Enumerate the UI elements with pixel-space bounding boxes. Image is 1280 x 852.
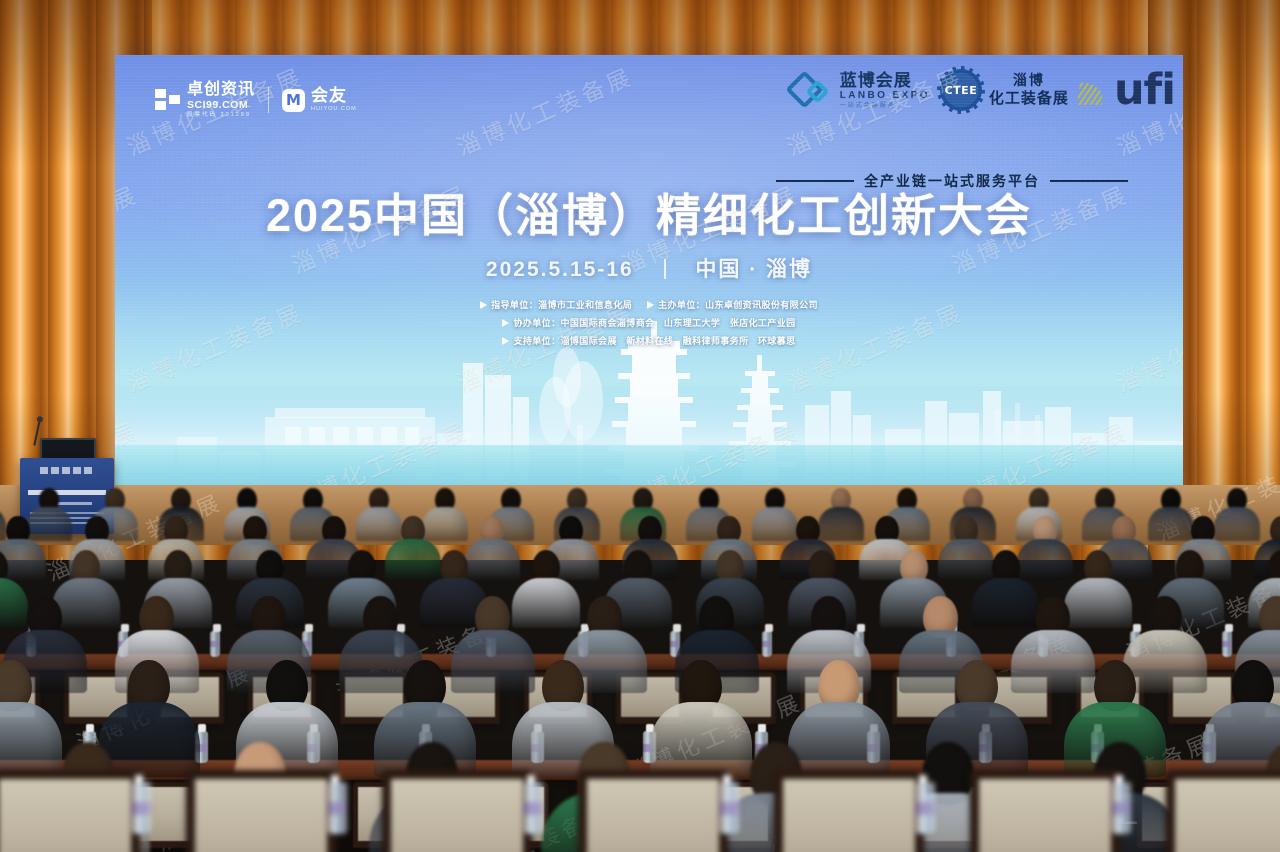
sci99-mark-icon bbox=[155, 89, 181, 111]
organizer-label: 主办单位： bbox=[658, 300, 705, 310]
person-torso bbox=[650, 702, 752, 777]
organizer-label: 指导单位： bbox=[491, 300, 538, 310]
ufi-wing-icon bbox=[1077, 75, 1115, 105]
person-torso bbox=[1064, 578, 1132, 628]
huiyou-logo: M 会友 HUIYOU.COM bbox=[282, 87, 357, 113]
conference-photo: 卓创资讯 SCI99.COM 股票代码 301299 M 会友 HUIYOU.C… bbox=[0, 0, 1280, 852]
lanbo-expo-logo: 蓝博会展 LANBO EXPO 一站式会展服务 bbox=[791, 70, 930, 110]
person-torso bbox=[1011, 630, 1095, 692]
person-torso bbox=[818, 507, 864, 541]
bullet-arrow-icon bbox=[502, 319, 509, 327]
person-torso bbox=[752, 507, 798, 541]
ctee-line1: 淄博 bbox=[989, 72, 1069, 88]
slide-title: 2025中国（淄博）精细化工创新大会 bbox=[115, 179, 1183, 244]
foreground-chair bbox=[970, 770, 1120, 852]
huiyou-badge-icon: M bbox=[282, 89, 305, 112]
lanbo-en: LANBO EXPO bbox=[840, 91, 930, 101]
ctee-logo: CTEE 淄博 化工装备展 bbox=[940, 69, 1069, 111]
slide-date: 2025.5.15-16 bbox=[486, 258, 634, 281]
lanbo-diamond-icon bbox=[791, 70, 833, 110]
foreground-chair bbox=[186, 770, 336, 852]
person-torso bbox=[356, 507, 402, 541]
ctee-line2: 化工装备展 bbox=[989, 90, 1069, 107]
organizer-value: 淄博市工业和信息化局 bbox=[538, 300, 632, 310]
person-torso bbox=[1214, 507, 1260, 541]
water-bottle bbox=[1222, 631, 1232, 657]
ufi-logo: ufi bbox=[1079, 72, 1175, 109]
slide-organizers: 指导单位：淄博市工业和信息化局 主办单位：山东卓创资讯股份有限公司 协办单位：中… bbox=[115, 298, 1183, 352]
sci99-en: SCI99.COM bbox=[187, 100, 255, 111]
water-bottle bbox=[132, 782, 151, 834]
organizer-line: 支持单位：淄博国际会展 新材料在线 融科律师事务所 环球慕思 bbox=[115, 334, 1183, 347]
person-torso bbox=[938, 539, 994, 580]
foreground-chair bbox=[1166, 770, 1280, 852]
person-torso bbox=[52, 578, 120, 628]
person-torso bbox=[0, 507, 6, 541]
logo-divider bbox=[268, 87, 269, 113]
organizer-value: 淄博国际会展 新材料在线 融科律师事务所 环球慕思 bbox=[561, 336, 796, 346]
lanbo-cn: 蓝博会展 bbox=[840, 72, 930, 89]
bullet-arrow-icon bbox=[502, 337, 509, 345]
person-torso bbox=[788, 702, 890, 777]
sci99-cn: 卓创资讯 bbox=[187, 82, 255, 98]
person-torso bbox=[512, 578, 580, 628]
person-torso bbox=[98, 702, 200, 777]
projection-screen: 卓创资讯 SCI99.COM 股票代码 301299 M 会友 HUIYOU.C… bbox=[115, 55, 1183, 485]
slide-logos-right: 蓝博会展 LANBO EXPO 一站式会展服务 CTEE 淄博 化工装备展 bbox=[791, 69, 1175, 111]
huiyou-sub: HUIYOU.COM bbox=[311, 107, 357, 113]
foreground-chair bbox=[0, 770, 140, 852]
organizer-line: 协办单位：中国国际商会淄博商会 山东理工大学 张店化工产业园 bbox=[115, 316, 1183, 329]
gear-icon: CTEE bbox=[940, 69, 982, 111]
audience-seating bbox=[0, 470, 1280, 852]
person-torso bbox=[1148, 507, 1194, 541]
water-bottle bbox=[916, 782, 935, 834]
person-torso bbox=[0, 578, 28, 628]
organizer-label: 协办单位： bbox=[513, 318, 560, 328]
ufi-text: ufi bbox=[1114, 72, 1175, 109]
person-torso bbox=[385, 539, 441, 580]
bullet-arrow-icon bbox=[480, 301, 487, 309]
organizer-value: 中国国际商会淄博商会 山东理工大学 张店化工产业园 bbox=[561, 318, 796, 328]
foreground-chair bbox=[774, 770, 924, 852]
water-bottle bbox=[210, 631, 220, 657]
slide-location: 中国 · 淄博 bbox=[695, 258, 812, 281]
subtitle-divider bbox=[664, 259, 666, 279]
slide-logos-left: 卓创资讯 SCI99.COM 股票代码 301299 M 会友 HUIYOU.C… bbox=[155, 82, 357, 118]
huiyou-cn: 会友 bbox=[311, 87, 357, 104]
water-bottle bbox=[762, 631, 772, 657]
sci99-sub: 股票代码 301299 bbox=[187, 113, 255, 119]
person-torso bbox=[0, 702, 62, 777]
water-bottle bbox=[720, 782, 739, 834]
person-torso bbox=[464, 539, 520, 580]
foreground-chair bbox=[382, 770, 532, 852]
water-bottle bbox=[1112, 782, 1131, 834]
person-torso bbox=[451, 630, 535, 692]
bullet-arrow-icon bbox=[647, 301, 654, 309]
water-bottle bbox=[328, 782, 347, 834]
person-torso bbox=[422, 507, 468, 541]
ctee-mark-text: CTEE bbox=[940, 69, 982, 111]
person-torso bbox=[26, 507, 72, 541]
water-bottle bbox=[524, 782, 543, 834]
foreground-chair bbox=[578, 770, 728, 852]
organizer-value: 山东卓创资讯股份有限公司 bbox=[705, 300, 818, 310]
person-torso bbox=[1017, 539, 1073, 580]
lanbo-sub: 一站式会展服务 bbox=[840, 103, 930, 109]
sci99-logo: 卓创资讯 SCI99.COM 股票代码 301299 bbox=[155, 82, 255, 118]
person-torso bbox=[972, 578, 1040, 628]
organizer-label: 支持单位： bbox=[513, 336, 560, 346]
organizer-line: 指导单位：淄博市工业和信息化局 主办单位：山东卓创资讯股份有限公司 bbox=[115, 298, 1183, 311]
slide-subtitle: 2025.5.15-16 中国 · 淄博 bbox=[115, 253, 1183, 283]
